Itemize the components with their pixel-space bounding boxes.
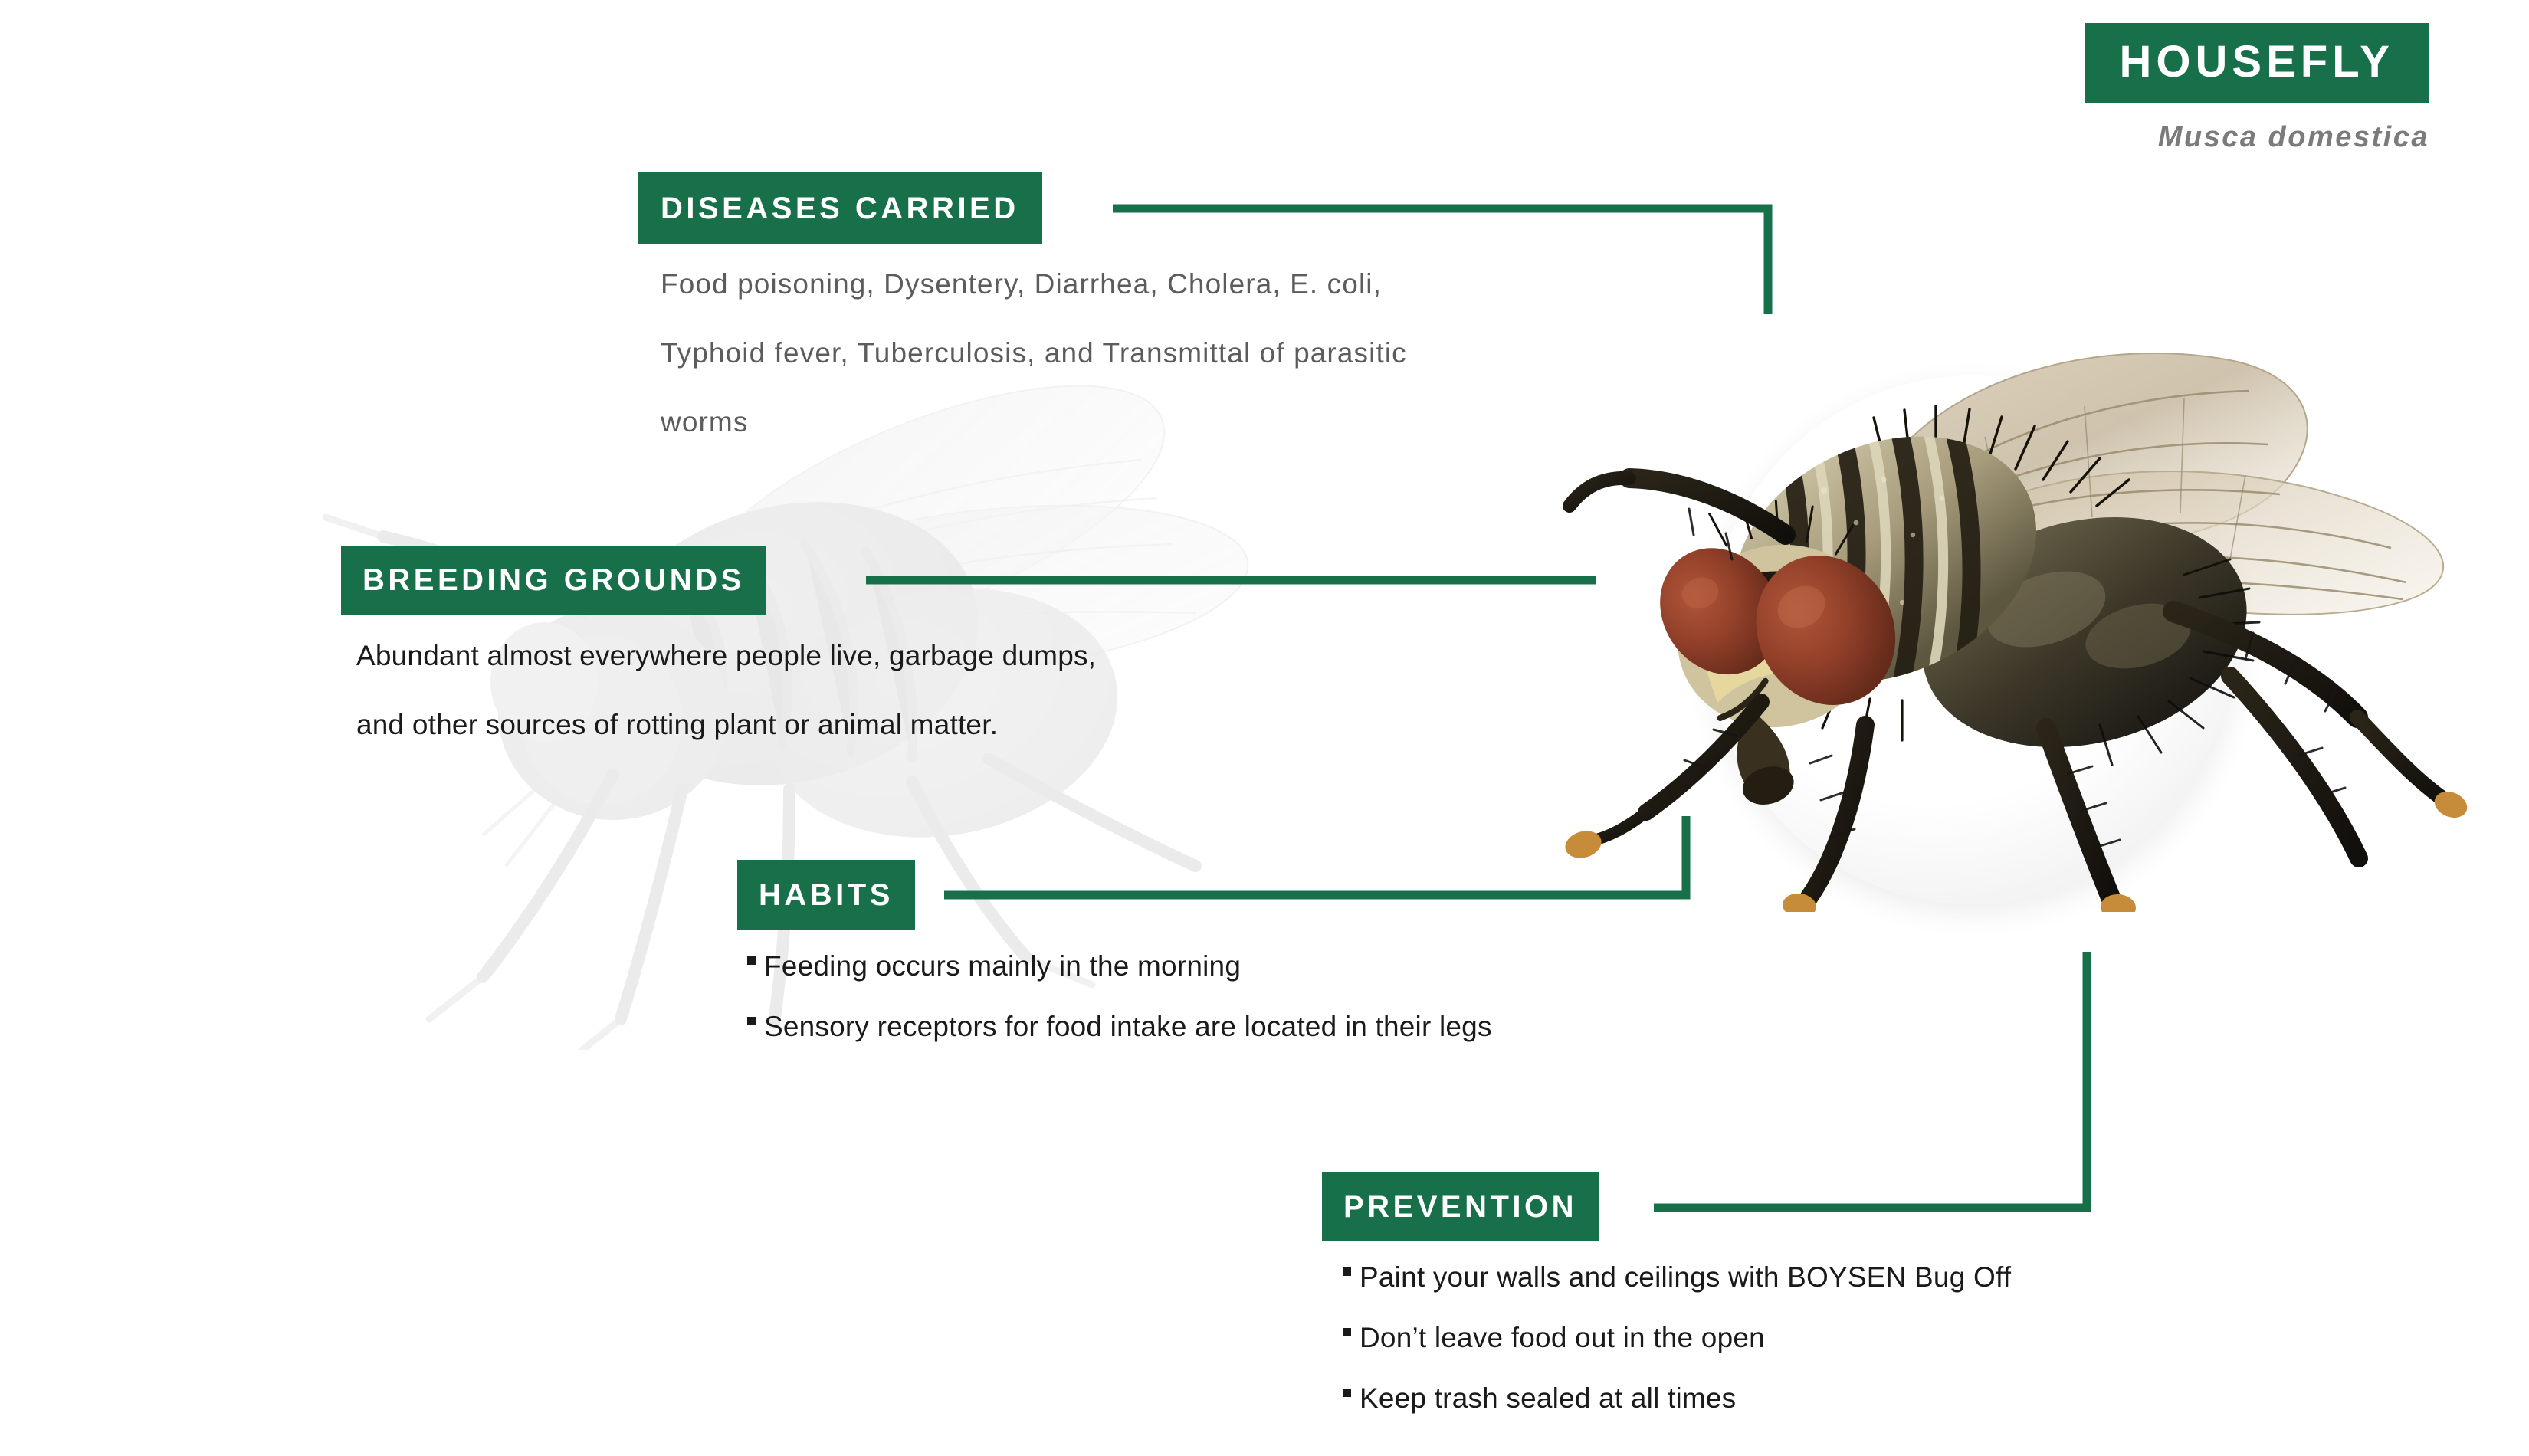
section-label-breeding-grounds: BREEDING GROUNDS xyxy=(362,565,745,595)
scientific-name-label: Musca domestica xyxy=(2085,121,2429,154)
common-name-label: HOUSEFLY xyxy=(2120,40,2394,84)
bullet-text: Sensory receptors for food intake are lo… xyxy=(764,1012,1492,1041)
bullet-text: Keep trash sealed at all times xyxy=(1360,1384,1736,1412)
bullet-square-icon xyxy=(1343,1267,1360,1276)
body-line: and other sources of rotting plant or an… xyxy=(356,710,1096,739)
list-item: Feeding occurs mainly in the morning xyxy=(747,952,1492,980)
body-line: Abundant almost everywhere people live, … xyxy=(356,641,1096,670)
housefly-photograph xyxy=(1556,330,2529,912)
bullet-text: Feeding occurs mainly in the morning xyxy=(764,952,1241,980)
connector-prevention xyxy=(1654,952,2087,1208)
body-line: Typhoid fever, Tuberculosis, and Transmi… xyxy=(661,339,1407,367)
section-body-prevention: Paint your walls and ceilings with BOYSE… xyxy=(1343,1263,2011,1412)
section-body-diseases-carried: Food poisoning, Dysentery, Diarrhea, Cho… xyxy=(661,270,1407,436)
section-body-breeding-grounds: Abundant almost everywhere people live, … xyxy=(356,641,1096,739)
list-item: Don’t leave food out in the open xyxy=(1343,1323,2011,1352)
bullet-square-icon xyxy=(747,956,764,965)
body-line: worms xyxy=(661,408,1407,436)
section-header-diseases-carried: DISEASES CARRIED xyxy=(638,172,1042,244)
bullet-text: Don’t leave food out in the open xyxy=(1360,1323,1765,1352)
section-body-habits: Feeding occurs mainly in the morning Sen… xyxy=(747,952,1492,1041)
section-label-diseases-carried: DISEASES CARRIED xyxy=(661,193,1019,224)
common-name-badge: HOUSEFLY xyxy=(2085,23,2429,103)
section-header-breeding-grounds: BREEDING GROUNDS xyxy=(341,546,766,615)
section-header-habits: HABITS xyxy=(737,860,915,930)
section-label-habits: HABITS xyxy=(759,880,894,910)
section-label-prevention: PREVENTION xyxy=(1343,1192,1577,1222)
bullet-square-icon xyxy=(747,1017,764,1025)
title-block: HOUSEFLY Musca domestica xyxy=(2085,23,2429,154)
bullet-text: Paint your walls and ceilings with BOYSE… xyxy=(1360,1263,2011,1291)
bullet-square-icon xyxy=(1343,1328,1360,1336)
section-header-prevention: PREVENTION xyxy=(1322,1172,1599,1241)
infographic-canvas: HOUSEFLY Musca domestica DISEASES CARRIE… xyxy=(0,0,2529,1456)
list-item: Sensory receptors for food intake are lo… xyxy=(747,1012,1492,1041)
body-line: Food poisoning, Dysentery, Diarrhea, Cho… xyxy=(661,270,1407,298)
list-item: Keep trash sealed at all times xyxy=(1343,1384,2011,1412)
bullet-square-icon xyxy=(1343,1389,1360,1397)
list-item: Paint your walls and ceilings with BOYSE… xyxy=(1343,1263,2011,1291)
